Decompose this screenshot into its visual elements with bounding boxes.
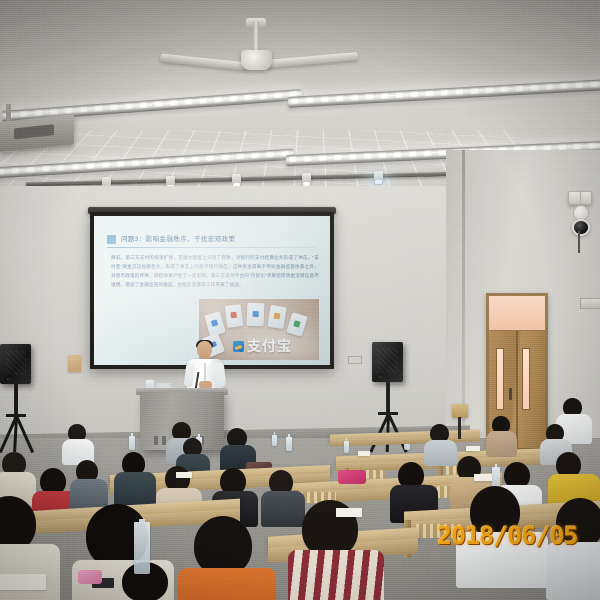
chair-leg: [458, 417, 461, 439]
paper-sheet: [474, 474, 492, 481]
slide-bullet-icon: [107, 235, 116, 244]
paper-sheet: [466, 446, 480, 451]
slide-body-text: 目前，第三方支付的快速扩张，在很大程度上分流了存款，对银行的支付结算业务形成了冲…: [111, 254, 319, 290]
ceiling-fan-icon: [241, 50, 272, 70]
presenter: [180, 341, 230, 393]
paper-sheet: [358, 451, 370, 456]
pink-pouch: [78, 570, 102, 584]
wall-cable: [578, 231, 580, 253]
water-bottle: [344, 441, 349, 453]
pa-speaker-right: ▪▪: [372, 342, 403, 382]
student-torso-striped: [288, 550, 384, 600]
track-spotlight-lit: [374, 171, 383, 184]
water-bottle: [286, 437, 292, 451]
water-bottle: [129, 436, 135, 450]
alipay-logo: 支付宝: [233, 335, 313, 357]
projector-lens: [14, 124, 54, 139]
presenter-arm-right: [215, 363, 226, 388]
pa-speaker-left: ▪▪: [0, 344, 31, 384]
screen-control-switch[interactable]: [348, 356, 362, 364]
alipay-logo-text: 支付宝: [247, 339, 292, 353]
bank-card-icon: [267, 305, 286, 329]
dome-sensor-icon: [572, 219, 590, 236]
projector-mount: [6, 104, 11, 122]
notebook: [0, 574, 46, 590]
water-bottle: [492, 467, 500, 487]
alipay-mark-icon: [233, 341, 244, 352]
wall-speaker-icon: [568, 191, 592, 205]
student-head: [194, 516, 252, 576]
student-torso: [261, 491, 305, 527]
chair-back: [452, 404, 468, 418]
paper-sheet: [336, 508, 362, 517]
slide-title: 问题3：影响金融秩序，干扰宏观政策: [121, 233, 316, 243]
pink-backpack: [338, 470, 366, 484]
lecture-hall-photo: 问题3：影响金融秩序，干扰宏观政策 目前，第三方支付的快速扩张，在很大程度上分流…: [0, 0, 600, 600]
track-spotlight: [302, 173, 311, 186]
paper-sheet: [176, 472, 192, 478]
bank-card-icon: [247, 303, 265, 327]
student-torso: [0, 544, 60, 600]
door-handle-icon[interactable]: [509, 388, 512, 400]
bank-card-icon: [286, 312, 307, 337]
door-transom-window: [489, 296, 545, 330]
slide-title-divider: [107, 247, 316, 248]
student-torso: [178, 568, 276, 600]
wall-vent-icon: [580, 298, 600, 309]
bank-card-icon: [225, 304, 244, 328]
student-torso: [114, 472, 156, 506]
speaker-stand-pole: [14, 384, 18, 418]
ceiling-fan-rod: [253, 22, 259, 52]
podium-vent: [154, 436, 158, 445]
door-glass-panel: [496, 348, 504, 410]
door-center-seam: [516, 331, 518, 448]
student-torso: [486, 431, 517, 457]
camera-date-stamp: 2018/06/05: [437, 521, 578, 550]
door-glass-panel: [522, 348, 530, 410]
student-torso: [424, 440, 457, 466]
student-torso: [546, 542, 600, 600]
water-bottle: [272, 435, 277, 446]
water-bottle: [134, 522, 150, 574]
wall-notice: [68, 355, 81, 372]
